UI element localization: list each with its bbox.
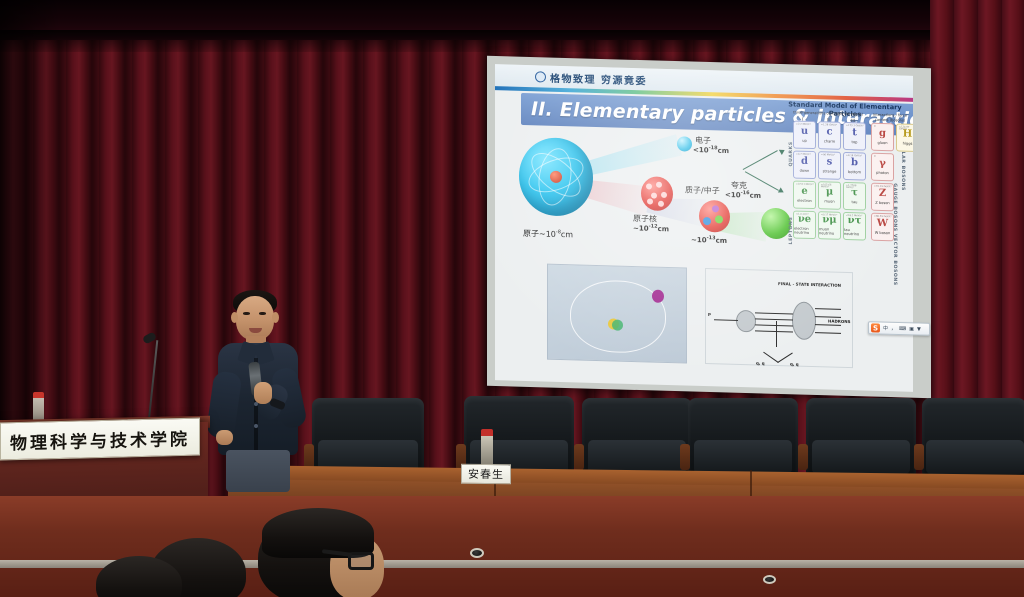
label-electron-size: <10-18cm (693, 146, 729, 155)
label-quark-cn: 夸克 (731, 181, 747, 191)
sm-name-up: up (802, 138, 807, 142)
sm-symbol-charm: c (826, 128, 832, 138)
nucleus-sphere (641, 176, 673, 211)
branch-label-left: q, q (756, 360, 765, 365)
sm-symbol-strange: s (827, 158, 833, 168)
sm-name-charm: charm (824, 139, 835, 143)
hadron-line-2 (815, 316, 841, 318)
sogou-ime-toolbar[interactable]: S 中 ， ⌨ ▣ ▼ (868, 321, 930, 336)
electron-sphere (677, 136, 692, 151)
hadron-line-4 (815, 332, 841, 334)
sm-cell-charm[interactable]: =1.28 GeV/c² c charm (818, 121, 841, 150)
label-electron-cn: 电子 (695, 136, 711, 146)
sm-cell-tau[interactable]: =1.7768 GeV/c² τ tau (843, 182, 866, 211)
sm-mass-electron-neutrino: <1.0 eV/c² (796, 213, 809, 216)
sm-symbol-bottom: b (851, 158, 858, 168)
initial-blob (736, 310, 756, 333)
quark-dot-green (715, 215, 723, 223)
sm-name-bottom: bottom (848, 170, 861, 174)
label-quark-size: <10-16cm (725, 191, 761, 200)
table-water-bottle (481, 434, 493, 468)
quark-line-3 (755, 324, 793, 326)
sm-mass-gluon: 0 (874, 125, 876, 128)
podium-sign: 物理科学与技术学院 (0, 418, 200, 461)
orbit-path (570, 279, 666, 354)
orbit-animation-panel (547, 264, 687, 364)
slide-header-motto: 格物致理 穷源竟委 (550, 70, 647, 88)
orbiting-particle (652, 290, 664, 303)
sm-cell-muon-neutrino[interactable]: <0.17 MeV/c² νμ muon neutrino (818, 211, 841, 240)
sm-name-electron-neutrino: electron neutrino (794, 226, 815, 235)
sm-mass-higgs: =124.97 GeV/c² (899, 126, 913, 132)
sm-cell-higgs[interactable]: =124.97 GeV/c² H higgs (896, 123, 913, 152)
quark-dot-blue (703, 217, 711, 225)
table-nameplate: 安春生 (461, 464, 511, 485)
quark-line-1 (755, 312, 793, 314)
presenter-ear-left (231, 312, 238, 323)
label-atom: 原子~10-8cm (523, 229, 573, 240)
slide-header-logo: 格物致理 穷源竟委 (535, 69, 647, 87)
sm-cell-electron[interactable]: =0.511 MeV/c² e electron (793, 180, 816, 209)
sm-mass-photon: 0 (874, 155, 876, 158)
sm-cell-muon[interactable]: =105.66 MeV/c² μ muon (818, 181, 841, 210)
sm-name-gluon: gluon (877, 141, 887, 145)
presenter-hand-right (254, 382, 272, 404)
sm-cell-z-boson[interactable]: =91.19 GeV/c² Z Z boson (871, 183, 894, 212)
final-state-blob (792, 301, 816, 340)
sm-mass-strange: =96 MeV/c² (821, 154, 835, 157)
curtain-valance-shadow (0, 30, 1024, 52)
gluon-vertical (776, 321, 777, 347)
sm-symbol-top: t (852, 128, 857, 138)
hadron-line-1 (815, 308, 841, 310)
sogou-logo-icon[interactable]: S (871, 323, 880, 332)
sm-symbol-gluon: g (879, 129, 886, 139)
label-proton-size: ~10-13cm (691, 236, 727, 245)
sm-mass-charm: =1.28 GeV/c² (821, 124, 837, 127)
sm-group-right-header: interactions / force carriers (bosons) (867, 113, 913, 124)
sm-name-strange: strange (823, 169, 837, 173)
sm-cell-down[interactable]: =4.7 MeV/c² d down (793, 150, 816, 179)
hadron-line-3 (815, 324, 841, 326)
sm-symbol-electron-neutrino: νe (798, 215, 811, 225)
sm-mass-electron: =0.511 MeV/c² (796, 183, 814, 186)
sm-cell-tau-neutrino[interactable]: <18.2 MeV/c² ντ tau neutrino (843, 212, 866, 241)
stage-front-knob-2 (763, 575, 776, 584)
presenter-hand-left (216, 430, 233, 445)
sm-name-down: down (800, 168, 810, 172)
keyboard-icon[interactable]: ⌨ (899, 326, 906, 332)
sm-name-electron: electron (797, 198, 812, 202)
sm-cell-bottom[interactable]: =4.18 GeV/c² b bottom (843, 152, 866, 181)
hadrons-label: HADRONS (828, 318, 850, 324)
presenter-legs (226, 450, 290, 492)
label-proton-cn: 质子/中子 (685, 185, 720, 195)
sm-mass-up: =2.2 MeV/c² (796, 123, 811, 126)
sm-name-higgs: higgs (903, 141, 913, 145)
sm-mass-top: =173.1 GeV/c² (846, 124, 864, 127)
sm-cell-electron-neutrino[interactable]: <1.0 eV/c² νe electron neutrino (793, 210, 816, 239)
incoming-line (714, 319, 738, 320)
feynman-title: FINAL - STATE INTERACTION (778, 281, 834, 288)
nameplate-text: 安春生 (468, 466, 504, 482)
proton-neutron-sphere (699, 200, 730, 233)
sm-symbol-muon-neutrino: νμ (822, 216, 836, 226)
sm-mass-muon-neutrino: <0.17 MeV/c² (821, 214, 837, 217)
audience-hair-2 (262, 508, 374, 558)
presenter (196, 288, 320, 488)
sm-mass-muon: =105.66 MeV/c² (821, 184, 840, 190)
sm-mass-tau-neutrino: <18.2 MeV/c² (846, 214, 862, 217)
sm-symbol-electron: e (801, 187, 807, 197)
atom-sphere (519, 137, 593, 217)
sm-cell-photon[interactable]: 0 γ photon (871, 153, 894, 182)
electron-cone (582, 134, 682, 180)
quark-dot-purple (712, 205, 719, 212)
sm-name-muon-neutrino: muon neutrino (819, 227, 840, 236)
sm-symbol-up: u (801, 127, 808, 137)
sm-name-top: top (852, 140, 858, 144)
sm-name-muon: muon (824, 199, 834, 203)
sm-name-photon: photon (876, 171, 889, 175)
sm-symbol-z-boson: Z (879, 189, 886, 199)
toolbox-icon[interactable]: ▣ (909, 326, 914, 332)
sm-symbol-down: d (801, 157, 808, 167)
standard-model-table: Standard Model of Elementary Particles t… (777, 100, 913, 248)
arrow-to-quarks (743, 150, 778, 170)
sm-name-tau-neutrino: tau neutrino (844, 228, 865, 237)
table-water-bottle-cap (481, 429, 493, 436)
sm-mass-bottom: =4.18 GeV/c² (846, 154, 862, 157)
sm-mass-tau: =1.7768 GeV/c² (846, 184, 865, 190)
quark-line-4 (755, 330, 793, 332)
presenter-head (236, 296, 274, 340)
orbit-center-green (612, 319, 623, 330)
sm-mass-z-boson: =91.19 GeV/c² (874, 185, 892, 188)
label-nucleus-cn: 原子核 (633, 214, 657, 224)
sm-name-w-boson: W boson (875, 231, 891, 235)
presenter-eye-right (259, 312, 266, 315)
lecture-hall-photo: 格物致理 穷源竟委 II. Elementary particles & int… (0, 0, 1024, 597)
sm-mass-w-boson: =80.39 GeV/c² (874, 215, 892, 218)
feynman-diagram-panel: FINAL - STATE INTERACTION HADRONS p q, q… (705, 268, 853, 368)
sm-name-tau: tau (852, 200, 858, 204)
presenter-ear-right (272, 312, 279, 323)
stage-front-knob-1 (470, 548, 484, 558)
punctuation-icon[interactable]: ， (891, 325, 896, 332)
presenter-button-3 (254, 424, 258, 428)
arrow-to-leptons (745, 171, 779, 191)
sm-mass-down: =4.7 MeV/c² (796, 153, 811, 156)
chinese-mode-icon[interactable]: 中 (883, 325, 888, 332)
settings-icon[interactable]: ▼ (917, 326, 921, 332)
quark-line-2 (755, 318, 793, 320)
podium-water-bottle-cap (33, 392, 44, 398)
label-nucleus-size: ~10-12cm (633, 224, 669, 233)
podium-sign-text: 物理科学与技术学院 (10, 424, 190, 453)
projection-screen: 格物致理 穷源竟委 II. Elementary particles & int… (495, 64, 913, 392)
presenter-eye-left (243, 312, 250, 315)
sm-name-z-boson: Z boson (875, 201, 889, 205)
sm-symbol-tau-neutrino: ντ (848, 216, 862, 226)
atom-nucleus-core (550, 171, 562, 183)
label-atom-cn: 原子 (523, 229, 539, 238)
sm-symbol-photon: γ (879, 159, 886, 169)
university-logo-icon (535, 71, 546, 82)
sm-cell-strange[interactable]: =96 MeV/c² s strange (818, 151, 841, 180)
sm-cell-w-boson[interactable]: =80.39 GeV/c² W W boson (871, 213, 894, 242)
sm-symbol-w-boson: W (877, 219, 888, 229)
branch-label-right: q, q (790, 361, 799, 366)
sm-cell-top[interactable]: =173.1 GeV/c² t top (843, 122, 866, 151)
sm-cell-gluon[interactable]: 0 g gluon (871, 123, 894, 152)
incoming-label: p (708, 311, 711, 316)
sm-cell-up[interactable]: =2.2 MeV/c² u up (793, 120, 816, 149)
